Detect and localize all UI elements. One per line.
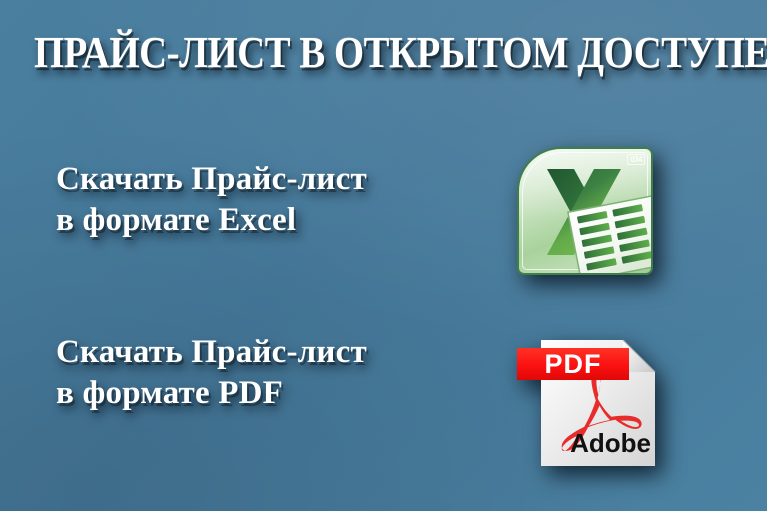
download-pdf-label-line1: Скачать Прайс-лист: [56, 332, 486, 373]
download-excel-label-line2: в формате Excel: [56, 200, 486, 241]
download-pdf-label-line2: в формате PDF: [56, 373, 486, 414]
download-row-excel[interactable]: Скачать Прайс-лист в формате Excel 034: [0, 145, 767, 295]
page-title: ПРАЙС-ЛИСТ В ОТКРЫТОМ ДОСТУПЕ: [34, 26, 650, 80]
price-list-banner: ПРАЙС-ЛИСТ В ОТКРЫТОМ ДОСТУПЕ Скачать Пр…: [0, 0, 767, 511]
download-excel-label-line1: Скачать Прайс-лист: [56, 159, 486, 200]
pdf-ribbon-text: PDF: [545, 349, 602, 379]
download-excel-label: Скачать Прайс-лист в формате Excel: [56, 159, 486, 241]
pdf-file-icon[interactable]: Adobe PDF: [515, 326, 675, 476]
excel-glyph-group: [517, 147, 667, 287]
download-pdf-label: Скачать Прайс-лист в формате PDF: [56, 332, 486, 414]
pdf-glyph-group: Adobe PDF: [515, 326, 675, 476]
pdf-brand-text: Adobe: [570, 428, 651, 458]
excel-file-icon[interactable]: 034: [517, 147, 667, 287]
download-row-pdf[interactable]: Скачать Прайс-лист в формате PDF: [0, 318, 767, 468]
